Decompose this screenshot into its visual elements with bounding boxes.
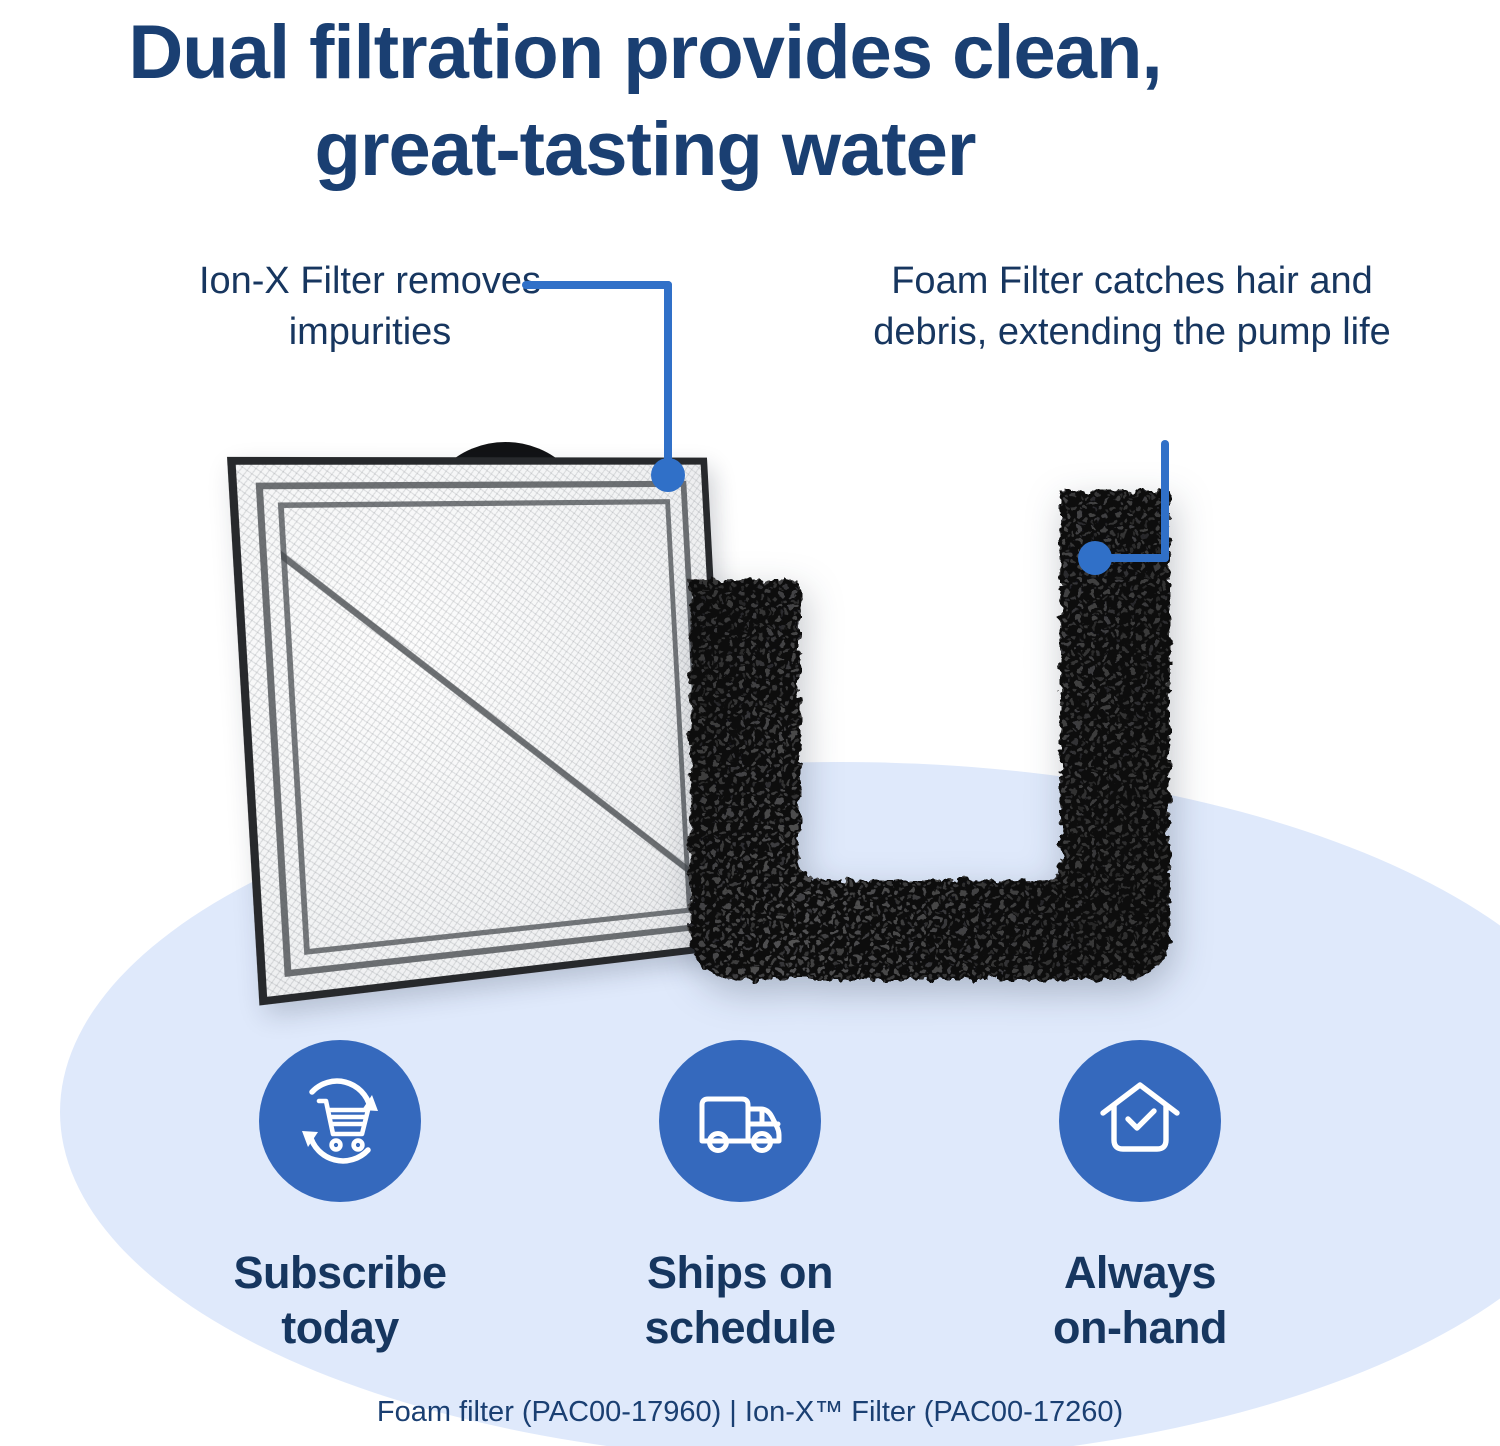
callout-foam: Foam Filter catches hair and debris, ext…: [840, 256, 1424, 357]
leader-segment-vertical: [664, 281, 672, 473]
benefit-label-line-1: Subscribe: [233, 1246, 446, 1301]
benefits-row: Subscribe today Ships on: [0, 1040, 1500, 1356]
callout-foam-line-1: Foam Filter catches hair: [891, 260, 1299, 302]
leader-segment-horizontal: [522, 281, 672, 289]
delivery-truck-icon: [688, 1069, 792, 1173]
callout-ion-x: Ion-X Filter removes impurities: [120, 256, 620, 357]
filter-pad-diagonal-seam: [278, 499, 692, 955]
benefit-icon-circle: [659, 1040, 821, 1202]
benefit-always-on-hand: Always on-hand: [940, 1040, 1340, 1356]
benefit-label-line-2: on-hand: [1053, 1301, 1227, 1356]
benefit-icon-circle: [1059, 1040, 1221, 1202]
benefit-label-line-1: Always: [1053, 1246, 1227, 1301]
infographic-canvas: Dual filtration provides clean, great-ta…: [0, 0, 1500, 1446]
filter-pad-surface: [227, 457, 733, 1006]
headline-line-1: Dual filtration provides clean,: [128, 10, 1161, 95]
foam-filter-block: [660, 460, 1200, 1050]
benefit-label: Ships on schedule: [644, 1246, 835, 1356]
subscribe-cart-icon: [288, 1069, 392, 1173]
benefit-icon-circle: [259, 1040, 421, 1202]
benefit-subscribe: Subscribe today: [140, 1040, 540, 1356]
benefit-label: Subscribe today: [233, 1246, 446, 1356]
leader-dot-icon: [651, 458, 685, 492]
benefit-label-line-2: today: [233, 1301, 446, 1356]
leader-segment-vertical: [1161, 440, 1169, 562]
ion-x-filter-pad: [268, 428, 728, 958]
callout-foam-line-3: the pump life: [1173, 311, 1391, 353]
benefit-ships: Ships on schedule: [540, 1040, 940, 1356]
footer-product-codes: Foam filter (PAC00-17960) | Ion-X™ Filte…: [0, 1396, 1500, 1429]
benefit-label-line-2: schedule: [644, 1301, 835, 1356]
product-image-group: [0, 400, 1500, 1080]
page-title: Dual filtration provides clean, great-ta…: [0, 4, 1290, 199]
leader-dot-icon: [1078, 541, 1112, 575]
benefit-label: Always on-hand: [1053, 1246, 1227, 1356]
callout-ion-x-line-1: Ion-X Filter: [199, 260, 385, 302]
headline-line-2: great-tasting water: [0, 101, 1290, 198]
benefit-label-line-1: Ships on: [644, 1246, 835, 1301]
foam-filter-svg: [660, 460, 1200, 1050]
home-check-icon: [1088, 1069, 1192, 1173]
